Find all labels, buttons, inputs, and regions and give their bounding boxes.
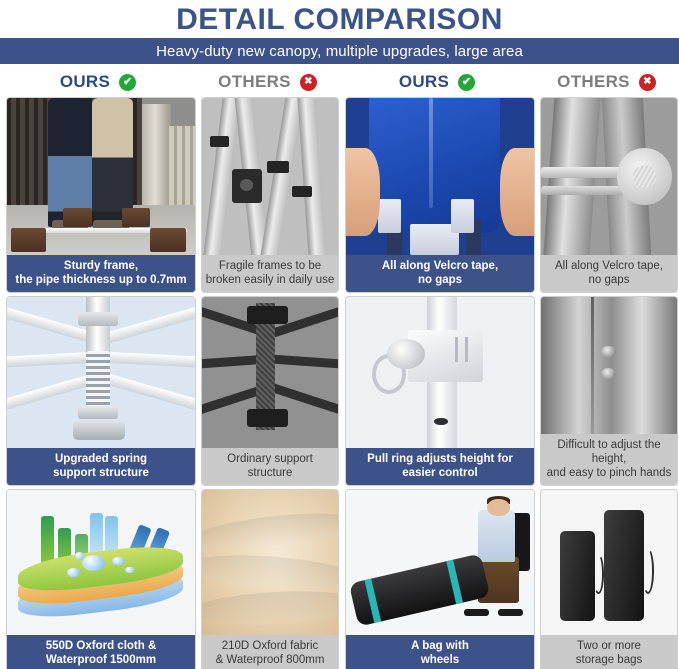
comparison-cell-ours: Pull ring adjusts height for easier cont… (345, 296, 535, 486)
check-circle-icon: ✔ (458, 74, 475, 91)
cell-caption: Pull ring adjusts height for easier cont… (346, 448, 534, 485)
cross-circle-icon: ✖ (639, 74, 656, 91)
row-half-right: All along Velcro tape, no gaps All along… (345, 97, 678, 293)
cell-caption: Upgraded spring support structure (7, 448, 195, 485)
column-header-others-right: OTHERS ✖ (535, 67, 678, 97)
column-header-label: OTHERS (218, 72, 291, 92)
waterproof-fabric-layers-diagram (7, 490, 195, 635)
cell-caption: Difficult to adjust the height, and easy… (541, 434, 677, 485)
page-title: DETAIL COMPARISON (0, 0, 679, 38)
comparison-cell-ours: All along Velcro tape, no gaps (345, 97, 535, 293)
thin-beige-fabric-photo (202, 490, 338, 635)
cell-caption: Fragile frames to be broken easily in da… (202, 255, 338, 292)
column-header-label: OURS (60, 72, 110, 92)
cell-caption: 550D Oxford cloth & Waterproof 1500mm (7, 635, 195, 669)
comparison-row: Sturdy frame, the pipe thickness up to 0… (6, 97, 673, 293)
cell-caption: Two or more storage bags (541, 635, 677, 669)
cell-caption: A bag with wheels (346, 635, 534, 669)
dark-ordinary-support-structure-photo (202, 297, 338, 448)
column-header-ours-left: OURS ✔ (0, 67, 196, 97)
column-header-ours-right: OURS ✔ (339, 67, 535, 97)
subtitle-text: Heavy-duty new canopy, multiple upgrades… (156, 43, 523, 60)
comparison-cell-ours: A bag with wheels (345, 489, 535, 669)
white-frame-spring-support-photo (7, 297, 195, 448)
cross-circle-icon: ✖ (300, 74, 317, 91)
broken-white-frame-tubes-photo (202, 98, 338, 255)
comparison-cell-others: Two or more storage bags (540, 489, 678, 669)
column-header-row: OURS ✔ OTHERS ✖ OURS ✔ OTHERS ✖ (0, 67, 679, 97)
column-header-label: OURS (399, 72, 449, 92)
row-half-right: A bag with wheels Two or more storage ba… (345, 489, 678, 669)
column-header-label: OTHERS (557, 72, 630, 92)
comparison-cell-others: Difficult to adjust the height, and easy… (540, 296, 678, 486)
subtitle-banner: Heavy-duty new canopy, multiple upgrades… (0, 38, 679, 64)
grey-pole-velcro-button-photo (541, 98, 677, 255)
row-half-left: Sturdy frame, the pipe thickness up to 0… (6, 97, 339, 293)
man-pulling-wheeled-bag-photo (346, 490, 534, 635)
metal-tube-screws-photo (541, 297, 677, 434)
cell-caption: 210D Oxford fabric & Waterproof 800mm (202, 635, 338, 669)
comparison-cell-others: Ordinary support structure (201, 296, 339, 486)
comparison-grid: Sturdy frame, the pipe thickness up to 0… (0, 97, 679, 669)
check-circle-icon: ✔ (119, 74, 136, 91)
detail-comparison-page: DETAIL COMPARISON Heavy-duty new canopy,… (0, 0, 679, 669)
row-half-right: Pull ring adjusts height for easier cont… (345, 296, 678, 486)
comparison-row: Upgraded spring support structure Ordina… (6, 296, 673, 486)
comparison-cell-others: All along Velcro tape, no gaps (540, 97, 678, 293)
white-pole-pull-ring-photo (346, 297, 534, 448)
row-half-left: 550D Oxford cloth & Waterproof 1500mm 21… (6, 489, 339, 669)
cell-caption: All along Velcro tape, no gaps (346, 255, 534, 292)
comparison-row: 550D Oxford cloth & Waterproof 1500mm 21… (6, 489, 673, 669)
people-standing-on-frame-pipe-photo (7, 98, 195, 255)
row-half-left: Upgraded spring support structure Ordina… (6, 296, 339, 486)
cell-caption: Ordinary support structure (202, 448, 338, 485)
comparison-cell-ours: Sturdy frame, the pipe thickness up to 0… (6, 97, 196, 293)
comparison-cell-others: Fragile frames to be broken easily in da… (201, 97, 339, 293)
two-black-storage-bags-photo (541, 490, 677, 635)
comparison-cell-ours: Upgraded spring support structure (6, 296, 196, 486)
cell-caption: All along Velcro tape, no gaps (541, 255, 677, 292)
comparison-cell-ours: 550D Oxford cloth & Waterproof 1500mm (6, 489, 196, 669)
hands-holding-blue-canopy-velcro-photo (346, 98, 534, 255)
cell-caption: Sturdy frame, the pipe thickness up to 0… (7, 255, 195, 292)
column-header-others-left: OTHERS ✖ (196, 67, 339, 97)
comparison-cell-others: 210D Oxford fabric & Waterproof 800mm (201, 489, 339, 669)
